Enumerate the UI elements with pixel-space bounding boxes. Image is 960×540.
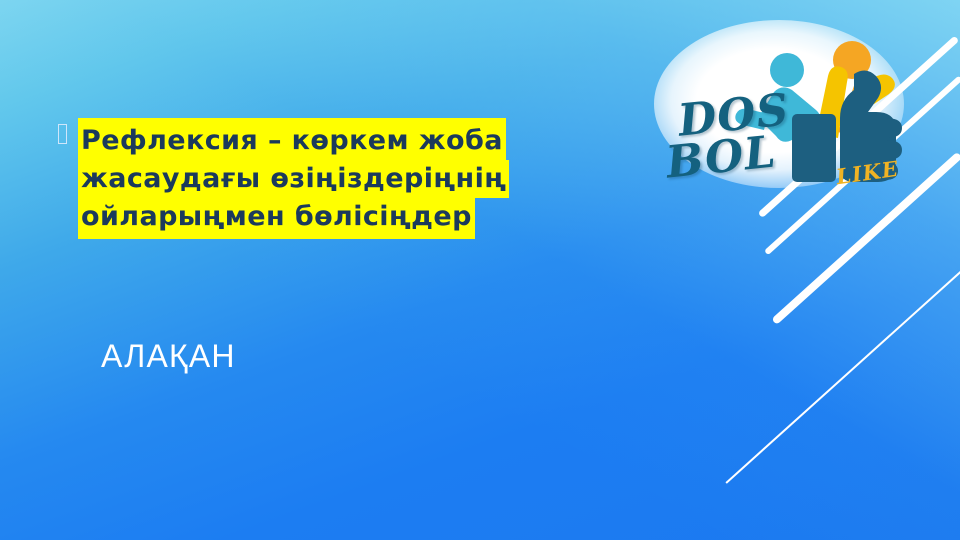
subtitle-text: АЛАҚАН — [101, 338, 236, 375]
title-text-block: Рефлексия – көркем жоба жасаудағы өзіңіз… — [78, 118, 598, 239]
title-line: Рефлексия – көркем жоба — [78, 118, 506, 160]
dosbol-logo: DOS BOL LIKE — [640, 14, 960, 194]
diagonal-streak — [725, 261, 960, 483]
slide-canvas: DOS BOL LIKE Рефлексия – көркем жоба жас… — [0, 0, 960, 540]
bullet-marker-icon — [58, 124, 67, 144]
title-line: ойларыңмен бөлісіңдер — [78, 198, 475, 239]
title-line: жасаудағы өзіңіздеріңнің — [78, 160, 509, 198]
